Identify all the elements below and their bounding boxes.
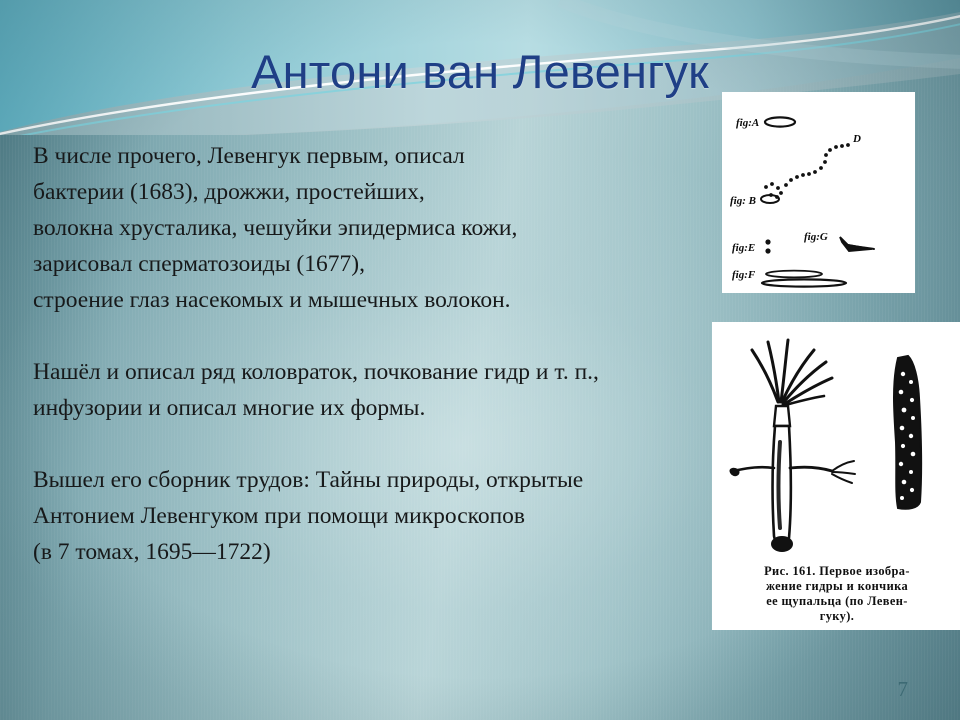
page-number: 7 bbox=[898, 677, 909, 702]
tentacle-tip-closeup bbox=[894, 356, 921, 509]
hydra-figure-svg bbox=[712, 322, 960, 567]
figure-caption: Рис. 161. Первое изобра- жение гидры и к… bbox=[720, 564, 954, 624]
body-line: строение глаз насекомых и мышечных волок… bbox=[33, 282, 723, 318]
svg-text:fig:E: fig:E bbox=[732, 242, 755, 254]
body-line-spacer bbox=[33, 426, 723, 462]
body-line: зарисовал сперматозоиды (1677), bbox=[33, 246, 723, 282]
svg-text:fig:G: fig:G bbox=[804, 231, 828, 243]
svg-text:fig:A: fig:A bbox=[736, 117, 759, 129]
caption-line: жение гидры и кончика bbox=[720, 579, 954, 594]
body-line: волокна хрусталика, чешуйки эпидермиса к… bbox=[33, 210, 723, 246]
caption-line: гуку). bbox=[720, 609, 954, 624]
body-line: Вышел его сборник трудов: Тайны природы,… bbox=[33, 462, 723, 498]
body-text-block: В числе прочего, Левенгук первым, описал… bbox=[33, 138, 723, 570]
leeuwenhoek-bacteria-image: fig:A fig: B D fig:E fig:G fig:F bbox=[722, 92, 915, 293]
body-line: инфузории и описал многие их формы. bbox=[33, 390, 723, 426]
svg-text:fig: B: fig: B bbox=[730, 195, 756, 207]
page-title: Антони ван Левенгук bbox=[0, 44, 960, 99]
caption-line: ее щупальца (по Левен- bbox=[720, 594, 954, 609]
body-line: (в 7 томах, 1695—1722) bbox=[33, 534, 723, 570]
bacteria-figure-svg: fig:A fig: B D fig:E fig:G fig:F bbox=[722, 92, 915, 293]
hydra-image: Рис. 161. Первое изобра- жение гидры и к… bbox=[712, 322, 960, 630]
svg-text:fig:F: fig:F bbox=[732, 269, 756, 281]
slide: Антони ван Левенгук В числе прочего, Лев… bbox=[0, 0, 960, 720]
body-line: Нашёл и описал ряд коловраток, почковани… bbox=[33, 354, 723, 390]
body-line: В числе прочего, Левенгук первым, описал bbox=[33, 138, 723, 174]
body-line: Антонием Левенгуком при помощи микроскоп… bbox=[33, 498, 723, 534]
body-line: бактерии (1683), дрожжи, простейших, bbox=[33, 174, 723, 210]
svg-text:D: D bbox=[852, 133, 861, 145]
body-line-spacer bbox=[33, 318, 723, 354]
caption-line: Рис. 161. Первое изобра- bbox=[720, 564, 954, 579]
